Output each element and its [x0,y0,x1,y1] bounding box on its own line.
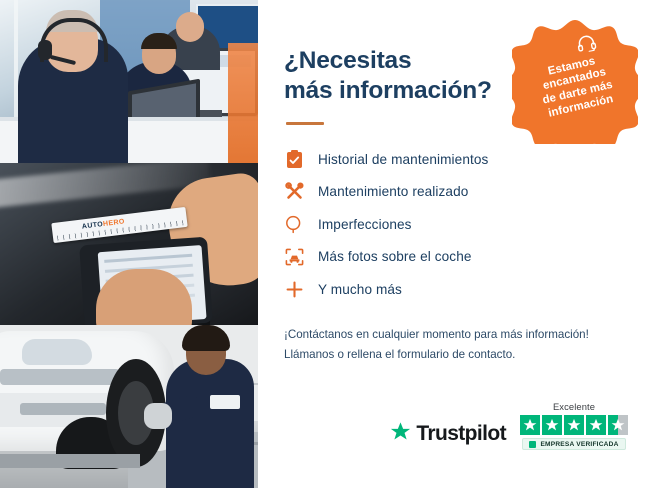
list-item-label: Mantenimiento realizado [318,184,468,199]
plus-icon [284,279,304,299]
car-photo-frame-icon [284,247,304,267]
list-item: Más fotos sobre el coche [284,240,624,273]
list-item: Mantenimiento realizado [284,175,624,208]
photo-column: AUTOHERO [0,0,258,488]
feature-list: Historial de mantenimientos Mantenimient… [284,143,624,306]
trustpilot-star-icon [390,421,411,447]
list-item: Y mucho más [284,273,624,306]
content-panel: ¿Necesitas más información? Historial de… [258,0,650,488]
list-item-label: Y mucho más [318,282,402,297]
contact-line-2: Llámanos o rellena el formulario de cont… [284,345,624,365]
info-card: AUTOHERO ¿Necesitas más inf [0,0,650,488]
check-icon [529,441,536,448]
promo-badge: Estamos encantados de darte más informac… [512,18,638,144]
list-item: Imperfecciones [284,208,624,241]
clipboard-check-icon [284,149,304,169]
star-filled [586,415,606,435]
photo-inspection-ruler: AUTOHERO [0,163,258,325]
list-item-label: Imperfecciones [318,217,412,232]
rating-label: Excelente [553,401,595,412]
verified-badge: EMPRESA VERIFICADA [522,438,625,450]
trustpilot-wordmark: Trustpilot [416,422,506,446]
trustpilot-widget[interactable]: Trustpilot Excelente [390,401,628,450]
photo-call-center [0,0,258,163]
contact-paragraph: ¡Contáctanos en cualquier momento para m… [284,325,624,365]
verified-label: EMPRESA VERIFICADA [540,441,618,448]
headline-line-2: más información? [284,77,492,104]
star-rating [520,415,628,435]
star-filled [564,415,584,435]
contact-line-1: ¡Contáctanos en cualquier momento para m… [284,325,624,345]
page-title: ¿Necesitas más información? [284,46,514,106]
star-filled [520,415,540,435]
tools-cross-icon [284,182,304,202]
magnifier-icon [284,214,304,234]
trustpilot-rating: Excelente [520,401,628,450]
headline-line-1: ¿Necesitas [284,47,411,74]
list-item: Historial de mantenimientos [284,143,624,176]
trustpilot-logo: Trustpilot [390,421,506,450]
title-underline-rule [286,122,324,125]
list-item-label: Más fotos sobre el coche [318,249,472,264]
photo-mechanic-wheel [0,325,258,488]
list-item-label: Historial de mantenimientos [318,152,488,167]
star-filled [542,415,562,435]
star-half [608,415,628,435]
